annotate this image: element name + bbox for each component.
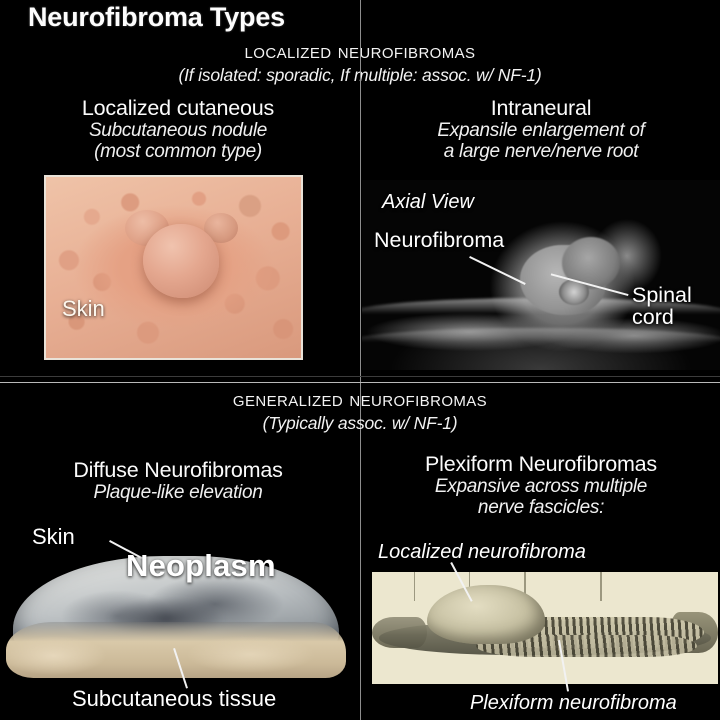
plate-hanger-line: [600, 572, 602, 601]
vertical-divider: [360, 0, 361, 720]
section-header-generalized: Generalized Neurofibromas (Typically ass…: [0, 388, 720, 434]
primary-nodule: [143, 224, 219, 298]
label-neurofibroma: Neurofibroma: [374, 228, 504, 253]
quadrant-subtitle-1: Expansile enlargement of: [362, 120, 720, 141]
section-heading-text: Generalized Neurofibromas: [233, 388, 487, 411]
label-spinal-cord: Spinal cord: [632, 285, 692, 329]
horizontal-divider-upper: [0, 376, 720, 377]
quadrant-title: Plexiform Neurofibromas: [362, 452, 720, 476]
quadrant-heading-diffuse: Diffuse Neurofibromas Plaque-like elevat…: [0, 458, 356, 503]
label-localized-neurofibroma: Localized neurofibroma: [378, 541, 586, 564]
quadrant-heading-plexiform: Plexiform Neurofibromas Expansive across…: [362, 452, 720, 519]
label-skin: Skin: [32, 524, 75, 550]
page-title: Neurofibroma Types: [28, 2, 285, 33]
plate-hanger-line: [414, 572, 416, 601]
label-plexiform-neurofibroma: Plexiform neurofibroma: [470, 692, 677, 715]
section-subheading-text: (Typically assoc. w/ NF-1): [0, 413, 720, 434]
quadrant-subtitle-2: a large nerve/nerve root: [362, 141, 720, 162]
label-subcutaneous-tissue: Subcutaneous tissue: [72, 686, 276, 712]
quadrant-subtitle-1: Subcutaneous nodule: [0, 120, 356, 141]
quadrant-title: Diffuse Neurofibromas: [0, 458, 356, 482]
quadrant-heading-localized-cutaneous: Localized cutaneous Subcutaneous nodule …: [0, 96, 356, 163]
specimen-subcutaneous-layer: [6, 622, 346, 678]
quadrant-heading-intraneural: Intraneural Expansile enlargement of a l…: [362, 96, 720, 163]
horizontal-divider: [0, 382, 720, 383]
neurofibroma-types-poster: Neurofibroma Types Localized Neurofibrom…: [0, 0, 720, 720]
quadrant-title: Localized cutaneous: [0, 96, 356, 120]
anatomical-plate-plexiform-neurofibroma: [372, 572, 718, 684]
label-cord: cord: [632, 305, 674, 329]
label-skin: Skin: [62, 296, 105, 322]
quadrant-subtitle-1: Expansive across multiple: [362, 476, 720, 497]
plate-localized-mass: [427, 585, 545, 643]
clinical-photo-skin-nodules: [44, 175, 303, 360]
quadrant-title: Intraneural: [362, 96, 720, 120]
body-wall-posterior: [362, 328, 720, 342]
label-axial-view: Axial View: [382, 191, 474, 214]
quadrant-subtitle-2: (most common type): [0, 141, 356, 162]
quadrant-subtitle-1: Plaque-like elevation: [0, 482, 356, 503]
quadrant-subtitle-2: nerve fascicles:: [362, 497, 720, 518]
label-neoplasm: Neoplasm: [126, 548, 276, 584]
label-spinal: Spinal: [632, 283, 692, 307]
